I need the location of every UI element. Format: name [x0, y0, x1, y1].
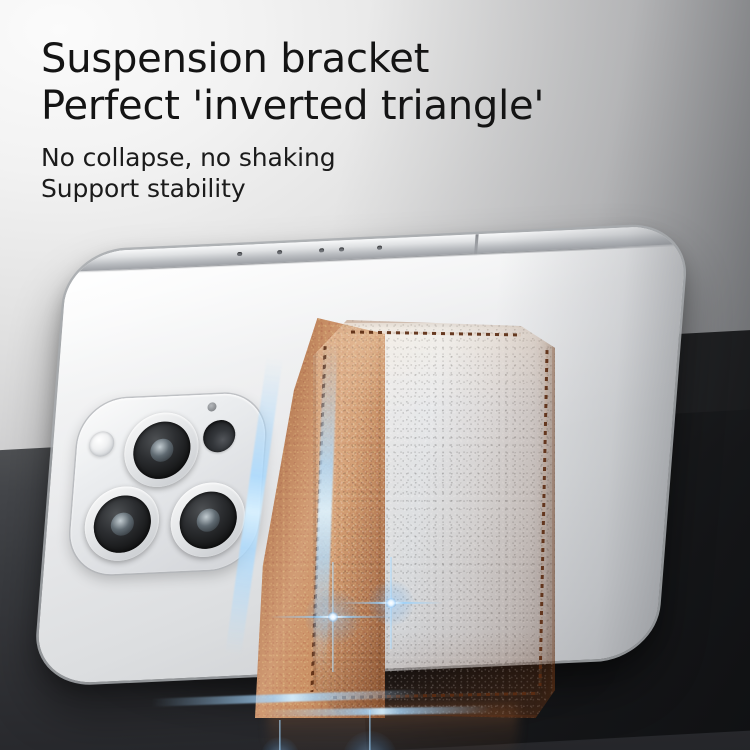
headline-line-2: Perfect 'inverted triangle' — [41, 83, 544, 130]
camera-lens-barrel — [131, 420, 192, 480]
camera-lens-glass — [195, 508, 220, 532]
microphone-hole-icon — [207, 402, 217, 411]
marketing-copy-block: Suspension bracket Perfect 'inverted tri… — [41, 36, 544, 204]
headline-line-1: Suspension bracket — [41, 36, 544, 83]
camera-lens-glass — [110, 512, 135, 536]
subtitle-line-1: No collapse, no shaking — [41, 142, 544, 173]
camera-lens-barrel — [91, 494, 152, 554]
camera-lens-barrel — [177, 490, 238, 550]
subtitle-group: No collapse, no shaking Support stabilit… — [41, 142, 544, 204]
subtitle-line-2: Support stability — [41, 173, 544, 204]
camera-lens-glass — [149, 438, 174, 462]
camera-lens-icon — [168, 481, 248, 559]
product-marketing-image: Suspension bracket Perfect 'inverted tri… — [0, 0, 750, 750]
camera-lens-icon — [82, 485, 162, 563]
magsafe-leather-wallet-stand — [255, 318, 555, 718]
triple-camera-module — [67, 392, 268, 576]
camera-lens-icon — [122, 411, 202, 489]
wallet-edge-rim — [313, 320, 555, 718]
camera-flash-icon — [88, 431, 115, 457]
lidar-sensor-icon — [202, 419, 236, 453]
